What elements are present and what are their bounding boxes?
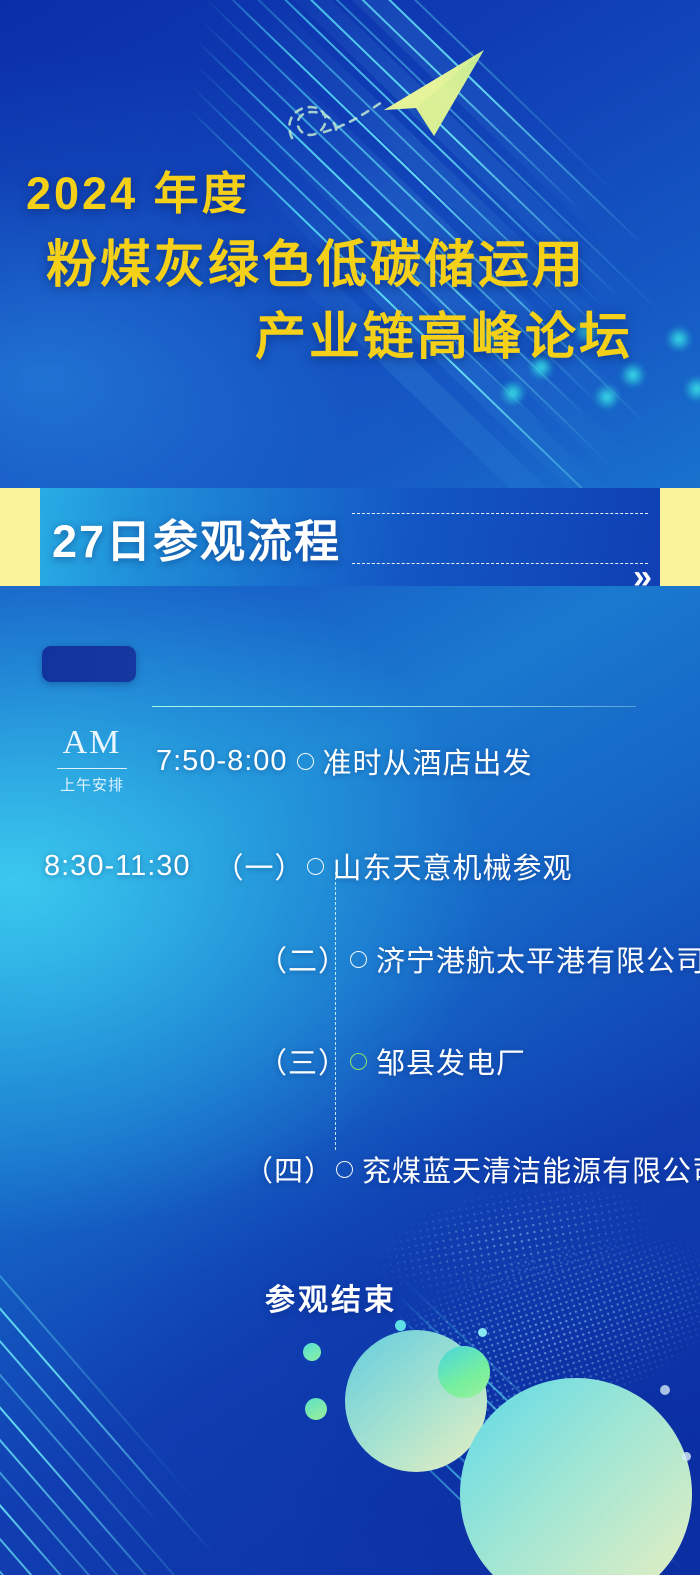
schedule-text: 兖煤蓝天清洁能源有限公司 — [362, 1148, 700, 1190]
schedule-time: 7:50-8:00 — [156, 745, 288, 778]
schedule-row: （三） 邹县发电厂 — [258, 1040, 526, 1082]
decor-circle-small-accent — [438, 1346, 490, 1398]
paper-plane-icon — [284, 40, 504, 160]
title-sub-line: 产业链高峰论坛 — [0, 308, 700, 367]
schedule-row: 8:30-11:30 （一） 山东天意机械参观 — [44, 845, 573, 887]
schedule-row: 7:50-8:00 准时从酒店出发 — [156, 740, 533, 782]
schedule-text: 山东天意机械参观 — [333, 845, 573, 887]
schedule-text: 准时从酒店出发 — [323, 740, 533, 782]
daypart-panel: AM 上午安排 — [48, 726, 136, 795]
daypart-abbr: AM — [48, 726, 136, 760]
decor-dot — [303, 1343, 321, 1361]
daypart-badge — [42, 646, 136, 682]
circle-marker-icon — [297, 753, 314, 770]
end-text: 参观结束 — [265, 1275, 397, 1319]
schedule-time: 8:30-11:30 — [44, 850, 191, 883]
circle-marker-icon — [350, 951, 367, 968]
schedule-index: （四） — [244, 1148, 334, 1190]
badge-rule-line — [152, 706, 636, 707]
schedule-text: 济宁港航太平港有限公司 — [376, 938, 700, 980]
schedule-index: （二） — [258, 938, 348, 980]
poster-canvas: 2024 年度 粉煤灰绿色低碳储运用 产业链高峰论坛 27日参观流程 » AM … — [0, 0, 700, 1575]
timeline-connector — [335, 872, 336, 1150]
title-year: 2024 年度 — [0, 168, 700, 220]
daypart-divider — [57, 768, 127, 769]
section-dash-line-top — [352, 513, 648, 514]
section-heading: 27日参观流程 — [52, 505, 341, 570]
schedule-index: （一） — [215, 845, 305, 887]
schedule-row: （四） 兖煤蓝天清洁能源有限公司 — [244, 1148, 700, 1190]
circle-marker-icon — [350, 1053, 367, 1070]
title-main-line: 粉煤灰绿色低碳储运用 — [0, 236, 700, 295]
daypart-label: 上午安排 — [48, 774, 136, 795]
schedule-index: （三） — [258, 1040, 348, 1082]
decor-dot — [305, 1398, 327, 1420]
section-dash-line-bottom — [352, 563, 648, 564]
decor-dot — [395, 1320, 406, 1331]
circle-marker-icon — [307, 858, 324, 875]
title-block: 2024 年度 粉煤灰绿色低碳储运用 产业链高峰论坛 — [0, 168, 700, 367]
schedule-row: （二） 济宁港航太平港有限公司 — [258, 938, 700, 980]
yellow-bar-left — [0, 488, 40, 586]
decor-dot — [660, 1385, 670, 1395]
schedule-text: 邹县发电厂 — [376, 1040, 526, 1082]
decor-dot — [682, 1452, 691, 1461]
chevron-right-icon: » — [633, 560, 646, 594]
decor-circle-large — [460, 1378, 692, 1575]
yellow-bar-right — [660, 488, 700, 586]
decor-dot — [478, 1328, 487, 1337]
circle-marker-icon — [336, 1161, 353, 1178]
